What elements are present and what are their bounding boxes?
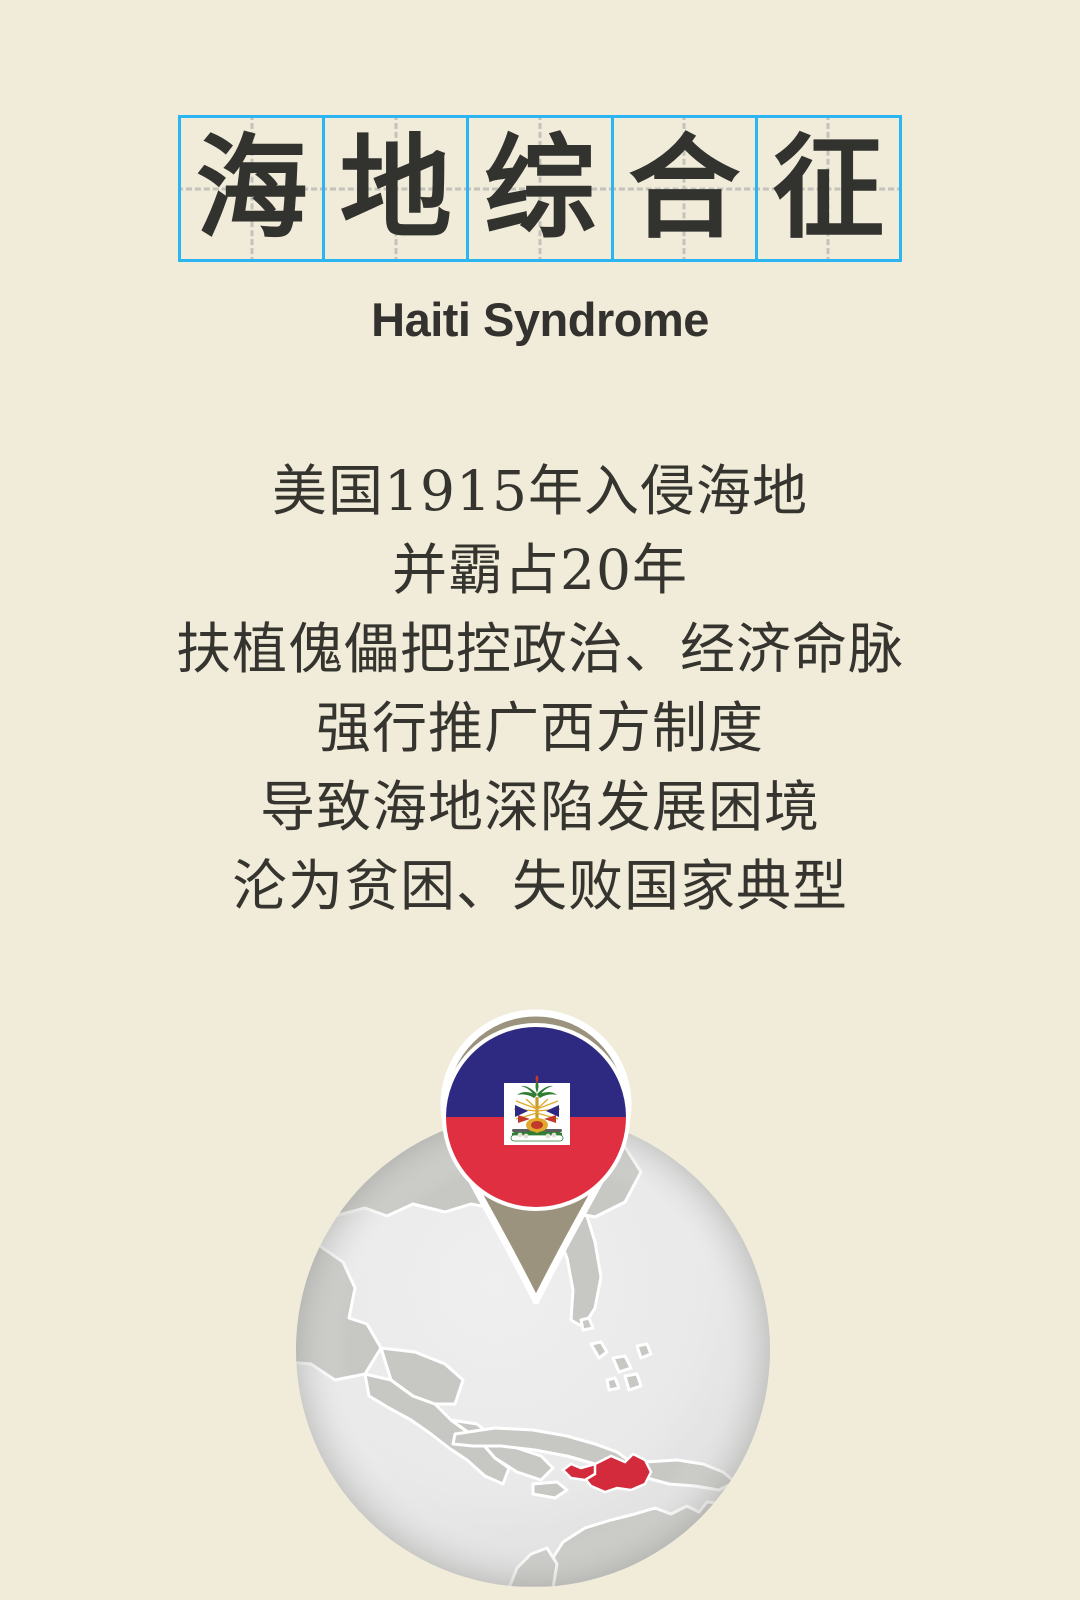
map-pin-svg — [416, 1005, 656, 1325]
title-char: 地 — [325, 118, 466, 259]
title-char: 征 — [758, 118, 899, 259]
body-line: 并霸占20年 — [0, 531, 1080, 610]
title-char: 合 — [614, 118, 755, 259]
body-line: 沦为贫困、失败国家典型 — [0, 847, 1080, 926]
body-text-block: 美国1915年入侵海地 并霸占20年 扶植傀儡把控政治、经济命脉 强行推广西方制… — [0, 452, 1080, 926]
title-grid-cell: 综 — [469, 118, 613, 259]
title-grid-cell: 海 — [181, 118, 325, 259]
title-character-grid: 海 地 综 合 征 — [178, 115, 902, 262]
title-grid-cell: 地 — [325, 118, 469, 259]
title-char: 海 — [181, 118, 322, 259]
title-char: 综 — [469, 118, 610, 259]
title-grid-cell: 征 — [758, 118, 899, 259]
body-line: 导致海地深陷发展困境 — [0, 768, 1080, 847]
body-line: 扶植傀儡把控政治、经济命脉 — [0, 610, 1080, 689]
body-line: 美国1915年入侵海地 — [0, 452, 1080, 531]
body-line: 强行推广西方制度 — [0, 689, 1080, 768]
haiti-coat-of-arms — [504, 1075, 570, 1145]
title-grid-cell: 合 — [614, 118, 758, 259]
page-subtitle: Haiti Syndrome — [0, 292, 1080, 347]
map-pin-haiti — [416, 1005, 656, 1325]
